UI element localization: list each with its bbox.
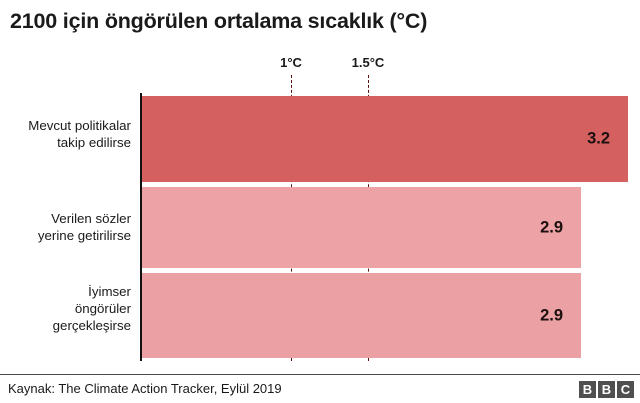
- reference-label-1-5c: 1.5°C: [352, 55, 385, 70]
- category-label-line: takip edilirse: [0, 134, 131, 151]
- category-label-line: Mevcut politikalar: [0, 117, 131, 134]
- category-label-verilen-sozler: Verilen sözler yerine getirilirse: [0, 210, 131, 244]
- category-label-line: yerine getirilirse: [0, 227, 131, 244]
- bar-iyimser-ongoruler: 2.9: [142, 273, 581, 358]
- bbc-logo-block-b2: B: [598, 381, 615, 398]
- plot-area: 1°C 1.5°C 3.2 2.9 2.9 Mevcut politikalar…: [0, 55, 640, 365]
- footer-divider: [0, 374, 640, 375]
- category-label-line: öngörüler: [0, 300, 131, 317]
- bar-mevcut-politikalar: 3.2: [142, 96, 628, 182]
- bar-value-label: 3.2: [587, 130, 610, 149]
- bbc-logo-block-c: C: [617, 381, 634, 398]
- bar-value-label: 2.9: [540, 218, 563, 237]
- bbc-logo-block-b1: B: [579, 381, 596, 398]
- chart-page: 2100 için öngörülen ortalama sıcaklık (°…: [0, 0, 640, 403]
- category-label-line: gerçekleşirse: [0, 317, 131, 334]
- category-label-mevcut-politikalar: Mevcut politikalar takip edilirse: [0, 117, 131, 151]
- page-title: 2100 için öngörülen ortalama sıcaklık (°…: [10, 9, 630, 34]
- source-caption: Kaynak: The Climate Action Tracker, Eylü…: [8, 381, 282, 396]
- bar-value-label: 2.9: [540, 306, 563, 325]
- category-label-iyimser-ongoruler: İyimser öngörüler gerçekleşirse: [0, 283, 131, 334]
- bbc-logo: B B C: [579, 381, 634, 398]
- bar-verilen-sozler: 2.9: [142, 187, 581, 268]
- category-label-line: Verilen sözler: [0, 210, 131, 227]
- reference-label-1c: 1°C: [280, 55, 302, 70]
- category-label-line: İyimser: [0, 283, 131, 300]
